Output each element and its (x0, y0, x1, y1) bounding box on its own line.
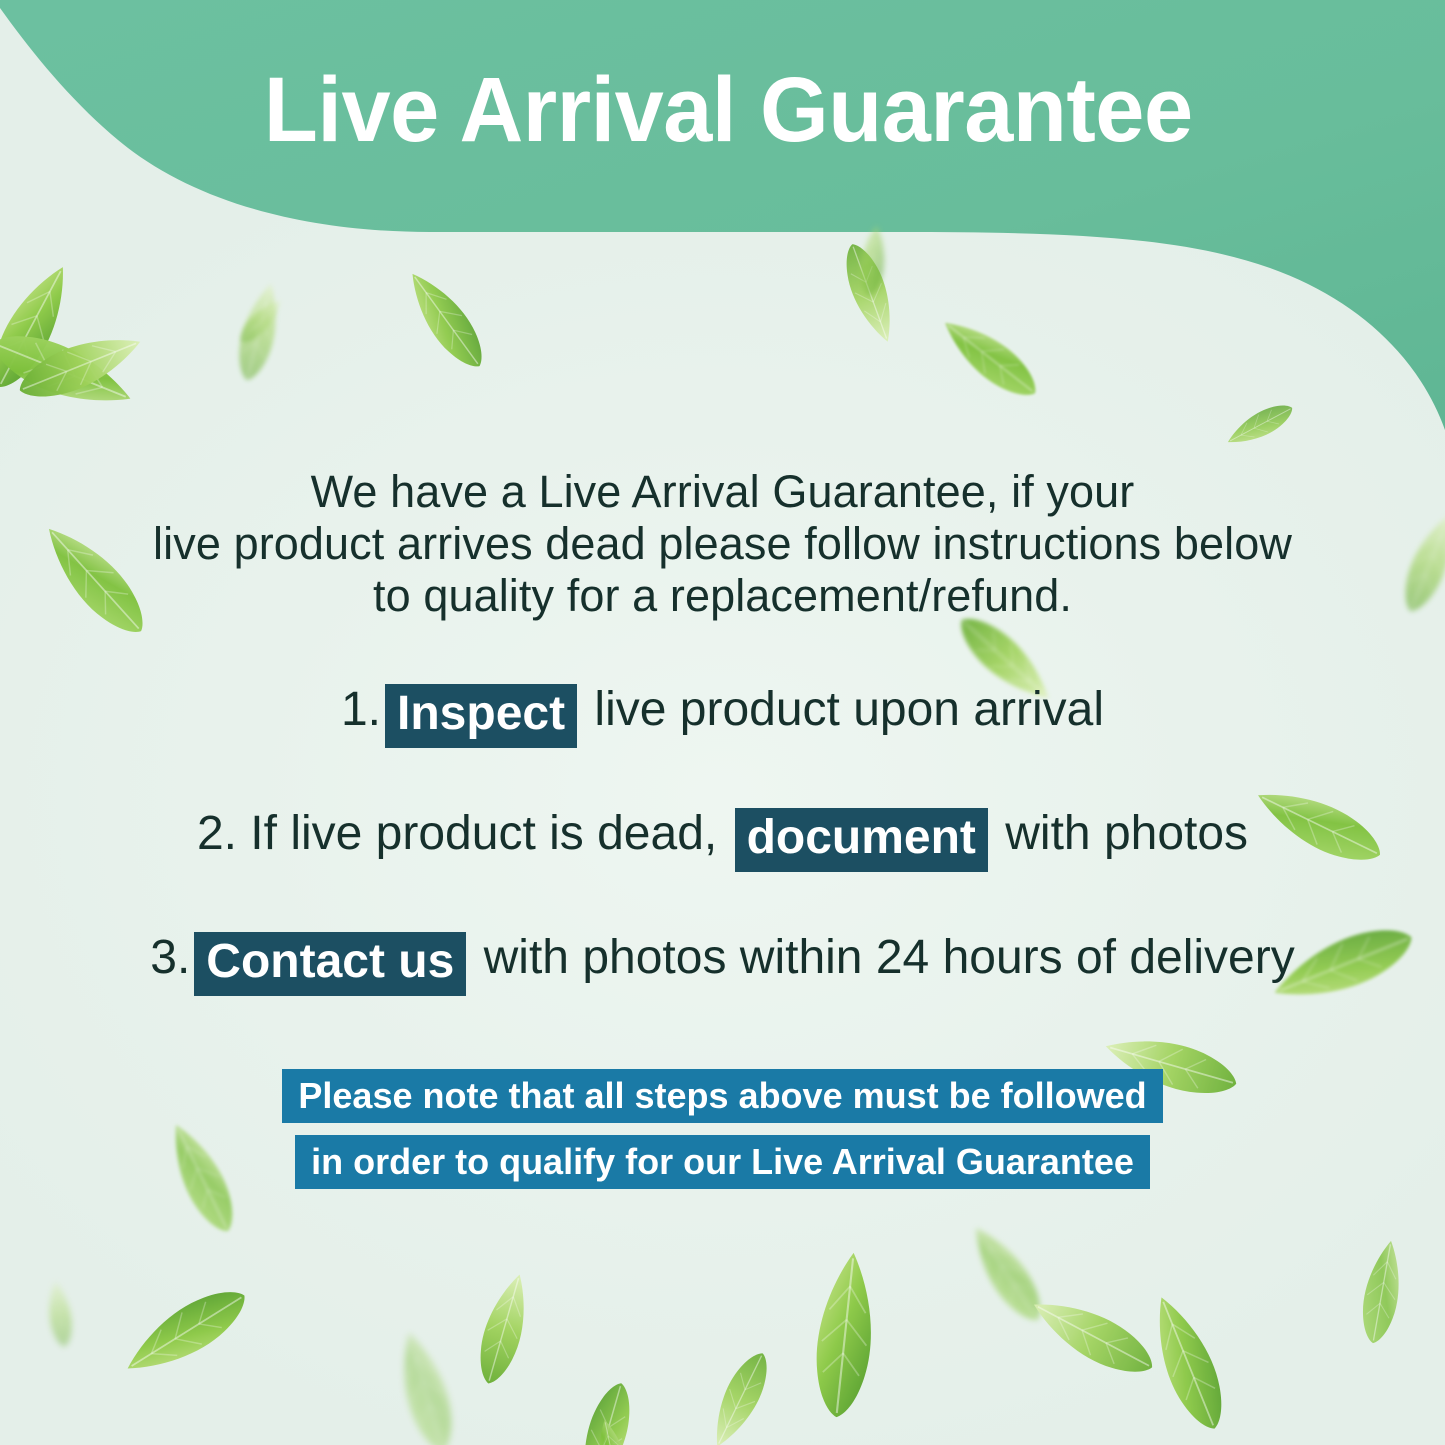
footer-note-line-2: in order to qualify for our Live Arrival… (295, 1135, 1150, 1189)
steps-list: 1.Inspect live product upon arrival 2. I… (0, 678, 1445, 1050)
footer-note-line-1: Please note that all steps above must be… (282, 1069, 1162, 1123)
step-text-after-1: live product upon arrival (581, 683, 1104, 736)
step-item-3: 3.Contact us with photos within 24 hours… (0, 926, 1445, 996)
step-text-before-2: If live product is dead, (237, 807, 731, 860)
step-highlight-1: Inspect (385, 684, 577, 748)
intro-line-2: live product arrives dead please follow … (0, 518, 1445, 570)
step-number-3: 3. (150, 931, 190, 984)
step-highlight-2: document (735, 808, 988, 872)
step-text-after-3: with photos within 24 hours of delivery (470, 931, 1294, 984)
intro-paragraph: We have a Live Arrival Guarantee, if you… (0, 466, 1445, 622)
poster-content: We have a Live Arrival Guarantee, if you… (0, 0, 1445, 1445)
step-highlight-3: Contact us (194, 932, 466, 996)
step-item-1: 1.Inspect live product upon arrival (0, 678, 1445, 748)
live-arrival-guarantee-poster: Live Arrival Guarantee (0, 0, 1445, 1445)
step-text-after-2: with photos (992, 807, 1248, 860)
step-number-1: 1. (341, 683, 381, 736)
intro-line-1: We have a Live Arrival Guarantee, if you… (0, 466, 1445, 518)
footer-note: Please note that all steps above must be… (0, 1069, 1445, 1201)
step-item-2: 2. If live product is dead, document wit… (0, 802, 1445, 872)
step-number-2: 2. (197, 807, 237, 860)
intro-line-3: to quality for a replacement/refund. (0, 570, 1445, 622)
